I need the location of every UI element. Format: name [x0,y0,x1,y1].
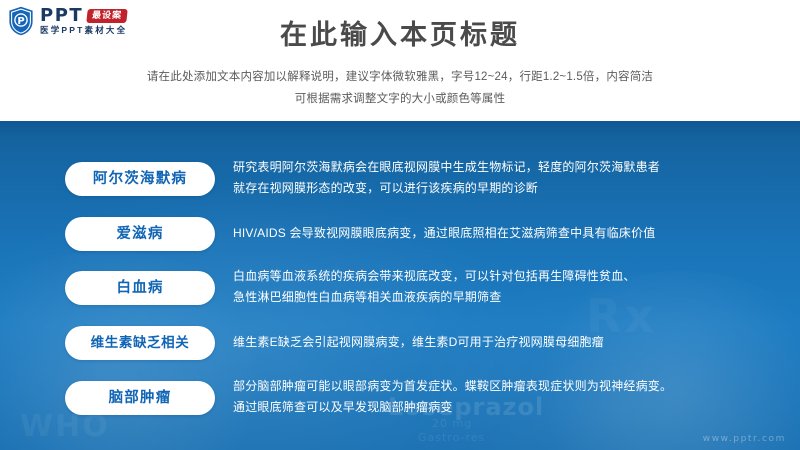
disease-list: 阿尔茨海默病 研究表明阿尔茨海默病会在眼底视网膜中生成生物标记，轻度的阿尔茨海默… [0,121,800,450]
disease-pill-leukemia[interactable]: 白血病 [65,271,215,305]
disease-pill-aids[interactable]: 爱滋病 [65,217,215,251]
disease-pill-brain-tumor[interactable]: 脑部肿瘤 [65,381,215,415]
disease-pill-vitamin-deficiency[interactable]: 维生素缺乏相关 [65,326,215,360]
description-line: 白血病等血液系统的疾病会带来视底改变，可以针对包括再生障碍性贫血、 [233,266,778,287]
list-item: 脑部肿瘤 部分脑部肿瘤可能以眼部病变为首发症状。蝶鞍区肿瘤表现症状则为视神经病变… [0,378,800,418]
pill-label: 阿尔茨海默病 [93,172,187,187]
description-line: HIV/AIDS 会导致视网膜眼底病变，通过眼底照相在艾滋病筛查中具有临床价值 [233,223,778,244]
disease-description: 白血病等血液系统的疾病会带来视底改变，可以针对包括再生障碍性贫血、 急性淋巴细胞… [233,266,778,309]
disease-description: 研究表明阿尔茨海默病会在眼底视网膜中生成生物标记，轻度的阿尔茨海默患者 就存在视… [233,157,778,200]
disease-description: 部分脑部肿瘤可能以眼部病变为首发症状。蝶鞍区肿瘤表现症状则为视神经病变。 通过眼… [233,376,778,419]
list-item: 爱滋病 HIV/AIDS 会导致视网膜眼底病变，通过眼底照相在艾滋病筛查中具有临… [0,214,800,254]
description-line: 维生素E缺乏会引起视网膜病变，维生素D可用于治疗视网膜母细胞瘤 [233,332,778,353]
subtitle-line-2: 可根据需求调整文字的大小或颜色等属性 [0,88,800,110]
disease-description: HIV/AIDS 会导致视网膜眼底病变，通过眼底照相在艾滋病筛查中具有临床价值 [233,223,778,244]
page-title: 在此输入本页标题 [0,20,800,51]
pill-label: 脑部肿瘤 [109,391,172,406]
description-line: 就存在视网膜形态的改变，可以进行该疾病的早期的诊断 [233,178,778,199]
pill-label: 白血病 [116,281,163,296]
subtitle-line-1: 请在此处添加文本内容加以解释说明，建议字体微软雅黑，字号12~24，行距1.2~… [0,66,800,88]
footer-url[interactable]: www.pptr.com [703,434,786,444]
content-panel: Rx WHO Loseprazol 20 mg Gastro-res 阿尔茨海默… [0,121,800,450]
slide-canvas: P PPT 最设案 医学PPT素材大全 在此输入本页标题 请在此处添加文本内容加… [0,0,800,450]
page-subtitle: 请在此处添加文本内容加以解释说明，建议字体微软雅黑，字号12~24，行距1.2~… [0,66,800,111]
description-line: 部分脑部肿瘤可能以眼部病变为首发症状。蝶鞍区肿瘤表现症状则为视神经病变。 [233,376,778,397]
list-item: 阿尔茨海默病 研究表明阿尔茨海默病会在眼底视网膜中生成生物标记，轻度的阿尔茨海默… [0,159,800,199]
description-line: 急性淋巴细胞性白血病等相关血液疾病的早期筛查 [233,287,778,308]
pill-label: 爱滋病 [116,227,163,242]
pill-label: 维生素缺乏相关 [91,336,190,350]
list-item: 白血病 白血病等血液系统的疾病会带来视底改变，可以针对包括再生障碍性贫血、 急性… [0,268,800,308]
disease-pill-alzheimers[interactable]: 阿尔茨海默病 [65,162,215,196]
disease-description: 维生素E缺乏会引起视网膜病变，维生素D可用于治疗视网膜母细胞瘤 [233,332,778,353]
list-item: 维生素缺乏相关 维生素E缺乏会引起视网膜病变，维生素D可用于治疗视网膜母细胞瘤 [0,323,800,363]
description-line: 通过眼底筛查可以及早发现脑部肿瘤病变 [233,397,778,418]
description-line: 研究表明阿尔茨海默病会在眼底视网膜中生成生物标记，轻度的阿尔茨海默患者 [233,157,778,178]
